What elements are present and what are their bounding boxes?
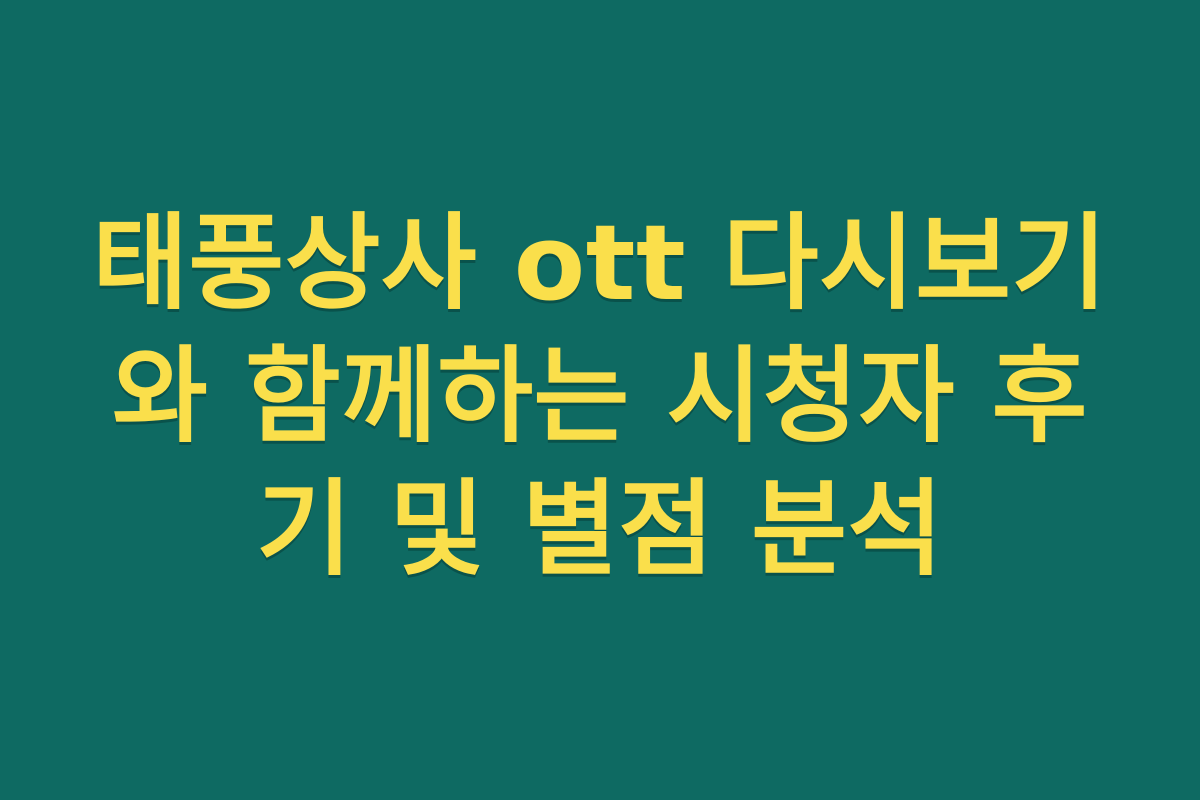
page-title: 태풍상사 ott 다시보기 와 함께하는 시청자 후 기 및 별점 분석 [70,197,1130,596]
title-line-2: 와 함께하는 시청자 후 [112,330,1088,463]
title-line-1: 태풍상사 ott 다시보기 [92,197,1107,330]
title-line-3: 기 및 별점 분석 [256,463,943,596]
banner-background: 태풍상사 ott 다시보기 와 함께하는 시청자 후 기 및 별점 분석 [0,0,1200,800]
